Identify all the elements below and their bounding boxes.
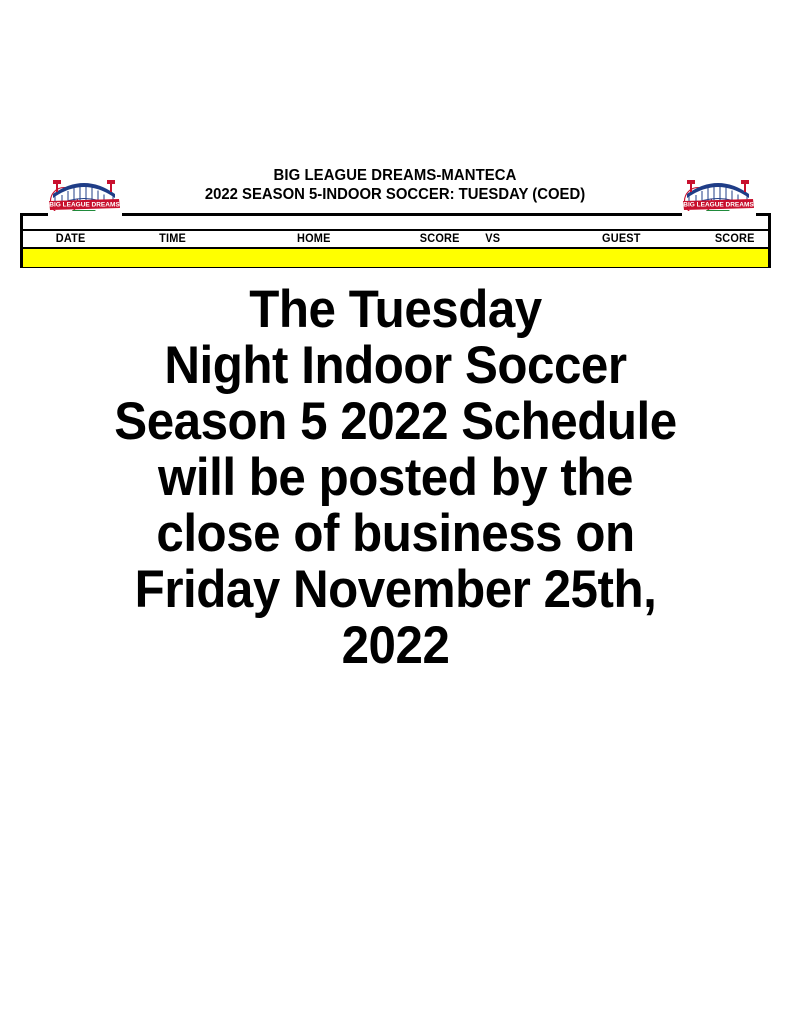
notice-line: will be posted by the: [93, 450, 698, 506]
table-header-row: DATE TIME HOME SCORE VS GUEST SCORE: [20, 229, 771, 249]
highlighted-empty-row: [20, 249, 771, 268]
schedule-notice: The Tuesday Night Indoor Soccer Season 5…: [70, 282, 721, 674]
column-header-home: HOME: [232, 233, 397, 245]
notice-line: Night Indoor Soccer: [93, 338, 698, 394]
notice-line: Friday November 25th,: [93, 562, 698, 618]
logo-wordmark: BIG LEAGUE DREAMS: [683, 202, 754, 209]
column-header-vs: VS: [480, 233, 540, 245]
notice-line: close of business on: [93, 506, 698, 562]
column-header-score-guest: SCORE: [702, 233, 766, 245]
season-subtitle: 2022 SEASON 5-INDOOR SOCCER: TUESDAY (CO…: [160, 187, 630, 204]
column-header-time: TIME: [121, 233, 225, 245]
notice-line: The Tuesday: [93, 282, 698, 338]
table-top-frame: [20, 213, 771, 229]
logo-wordmark: BIG LEAGUE DREAMS: [49, 202, 120, 209]
column-header-guest: GUEST: [546, 233, 697, 245]
document-page: BIG LEAGUE DREAMS SPORTS PARK BIG LEAGUE…: [0, 0, 791, 1024]
column-header-date: DATE: [25, 233, 115, 245]
header-titles: BIG LEAGUE DREAMS-MANTECA 2022 SEASON 5-…: [150, 168, 640, 203]
notice-line: 2022: [93, 618, 698, 674]
facility-title: BIG LEAGUE DREAMS-MANTECA: [160, 168, 630, 185]
notice-line: Season 5 2022 Schedule: [93, 394, 698, 450]
column-header-score-home: SCORE: [403, 233, 477, 245]
